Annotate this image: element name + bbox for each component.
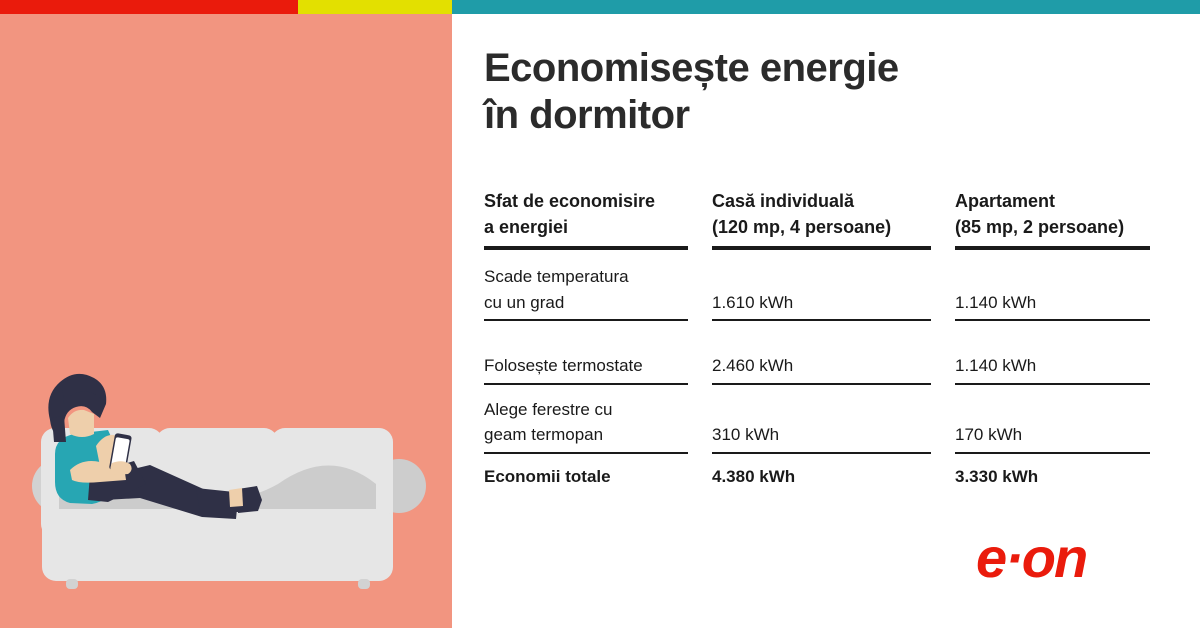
total-apartment-value: 3.330 kWh <box>955 464 1174 490</box>
row-1-tip: Scade temperatura cu un grad <box>484 264 712 321</box>
column-header-house-line-1: Casă individuală <box>712 188 955 214</box>
column-header-tip: Sfat de economisire a energiei <box>484 188 712 250</box>
table-row: Alege ferestre cu geam termopan 310 kWh … <box>484 397 1174 454</box>
row-1-house: 1.610 kWh <box>712 264 955 321</box>
row-3-rule-house <box>712 452 931 454</box>
content-panel: Economisește energie în dormitor Sfat de… <box>452 14 1200 628</box>
total-label: Economii totale <box>484 464 712 490</box>
row-2-rule-tip <box>484 383 688 385</box>
row-1-tip-line-1: Scade temperatura <box>484 264 712 290</box>
table-total-row: Economii totale 4.380 kWh 3.330 kWh <box>484 464 1174 490</box>
header-rule-apartment <box>955 246 1150 250</box>
color-bar-segment-yellow <box>298 0 452 14</box>
row-2-rule-apartment <box>955 383 1150 385</box>
row-2-apartment: 1.140 kWh <box>955 353 1174 385</box>
total-label-cell: Economii totale <box>484 464 712 490</box>
row-2-apartment-value: 1.140 kWh <box>955 353 1174 379</box>
header-rule-tip <box>484 246 688 250</box>
row-3-tip-line-1: Alege ferestre cu <box>484 397 712 423</box>
savings-table: Sfat de economisire a energiei Casă indi… <box>484 188 1174 489</box>
eon-logo: e·on <box>976 530 1086 586</box>
row-3-house: 310 kWh <box>712 397 955 454</box>
row-3-tip: Alege ferestre cu geam termopan <box>484 397 712 454</box>
row-2-house: 2.460 kWh <box>712 353 955 385</box>
page-title: Economisește energie în dormitor <box>484 45 1164 139</box>
row-3-apartment: 170 kWh <box>955 397 1174 454</box>
column-header-apartment-line-2: (85 mp, 2 persoane) <box>955 214 1174 240</box>
total-apartment-cell: 3.330 kWh <box>955 464 1174 490</box>
row-3-apartment-value: 170 kWh <box>955 422 1174 448</box>
row-3-rule-tip <box>484 452 688 454</box>
table-row: Folosește termostate 2.460 kWh 1.140 kWh <box>484 353 1174 385</box>
row-2-tip-line-1: Folosește termostate <box>484 353 712 379</box>
row-2-tip: Folosește termostate <box>484 353 712 385</box>
row-3-tip-line-2: geam termopan <box>484 422 712 448</box>
total-house-value: 4.380 kWh <box>712 464 955 490</box>
table-row: Scade temperatura cu un grad 1.610 kWh 1… <box>484 264 1174 321</box>
row-1-tip-line-2: cu un grad <box>484 290 712 316</box>
row-2-house-value: 2.460 kWh <box>712 353 955 379</box>
row-1-house-value: 1.610 kWh <box>712 290 955 316</box>
row-3-rule-apartment <box>955 452 1150 454</box>
woman-on-sofa-illustration <box>0 14 452 628</box>
row-2-rule-house <box>712 383 931 385</box>
table-header-row: Sfat de economisire a energiei Casă indi… <box>484 188 1174 250</box>
column-header-house: Casă individuală (120 mp, 4 persoane) <box>712 188 955 250</box>
total-house-cell: 4.380 kWh <box>712 464 955 490</box>
column-header-house-line-2: (120 mp, 4 persoane) <box>712 214 955 240</box>
page-title-line-1: Economisește energie <box>484 45 1164 92</box>
column-header-apartment-line-1: Apartament <box>955 188 1174 214</box>
row-1-apartment-value: 1.140 kWh <box>955 290 1174 316</box>
color-bar-segment-teal <box>452 0 1200 14</box>
column-header-apartment: Apartament (85 mp, 2 persoane) <box>955 188 1174 250</box>
row-1-rule-tip <box>484 319 688 321</box>
page-title-line-2: în dormitor <box>484 92 1164 139</box>
row-1-rule-apartment <box>955 319 1150 321</box>
row-3-house-value: 310 kWh <box>712 422 955 448</box>
row-1-rule-house <box>712 319 931 321</box>
row-1-apartment: 1.140 kWh <box>955 264 1174 321</box>
column-header-tip-line-2: a energiei <box>484 214 712 240</box>
header-rule-house <box>712 246 931 250</box>
illustration-panel <box>0 14 452 628</box>
column-header-tip-line-1: Sfat de economisire <box>484 188 712 214</box>
color-bar-segment-red <box>0 0 298 14</box>
brand-color-bar <box>0 0 1200 14</box>
